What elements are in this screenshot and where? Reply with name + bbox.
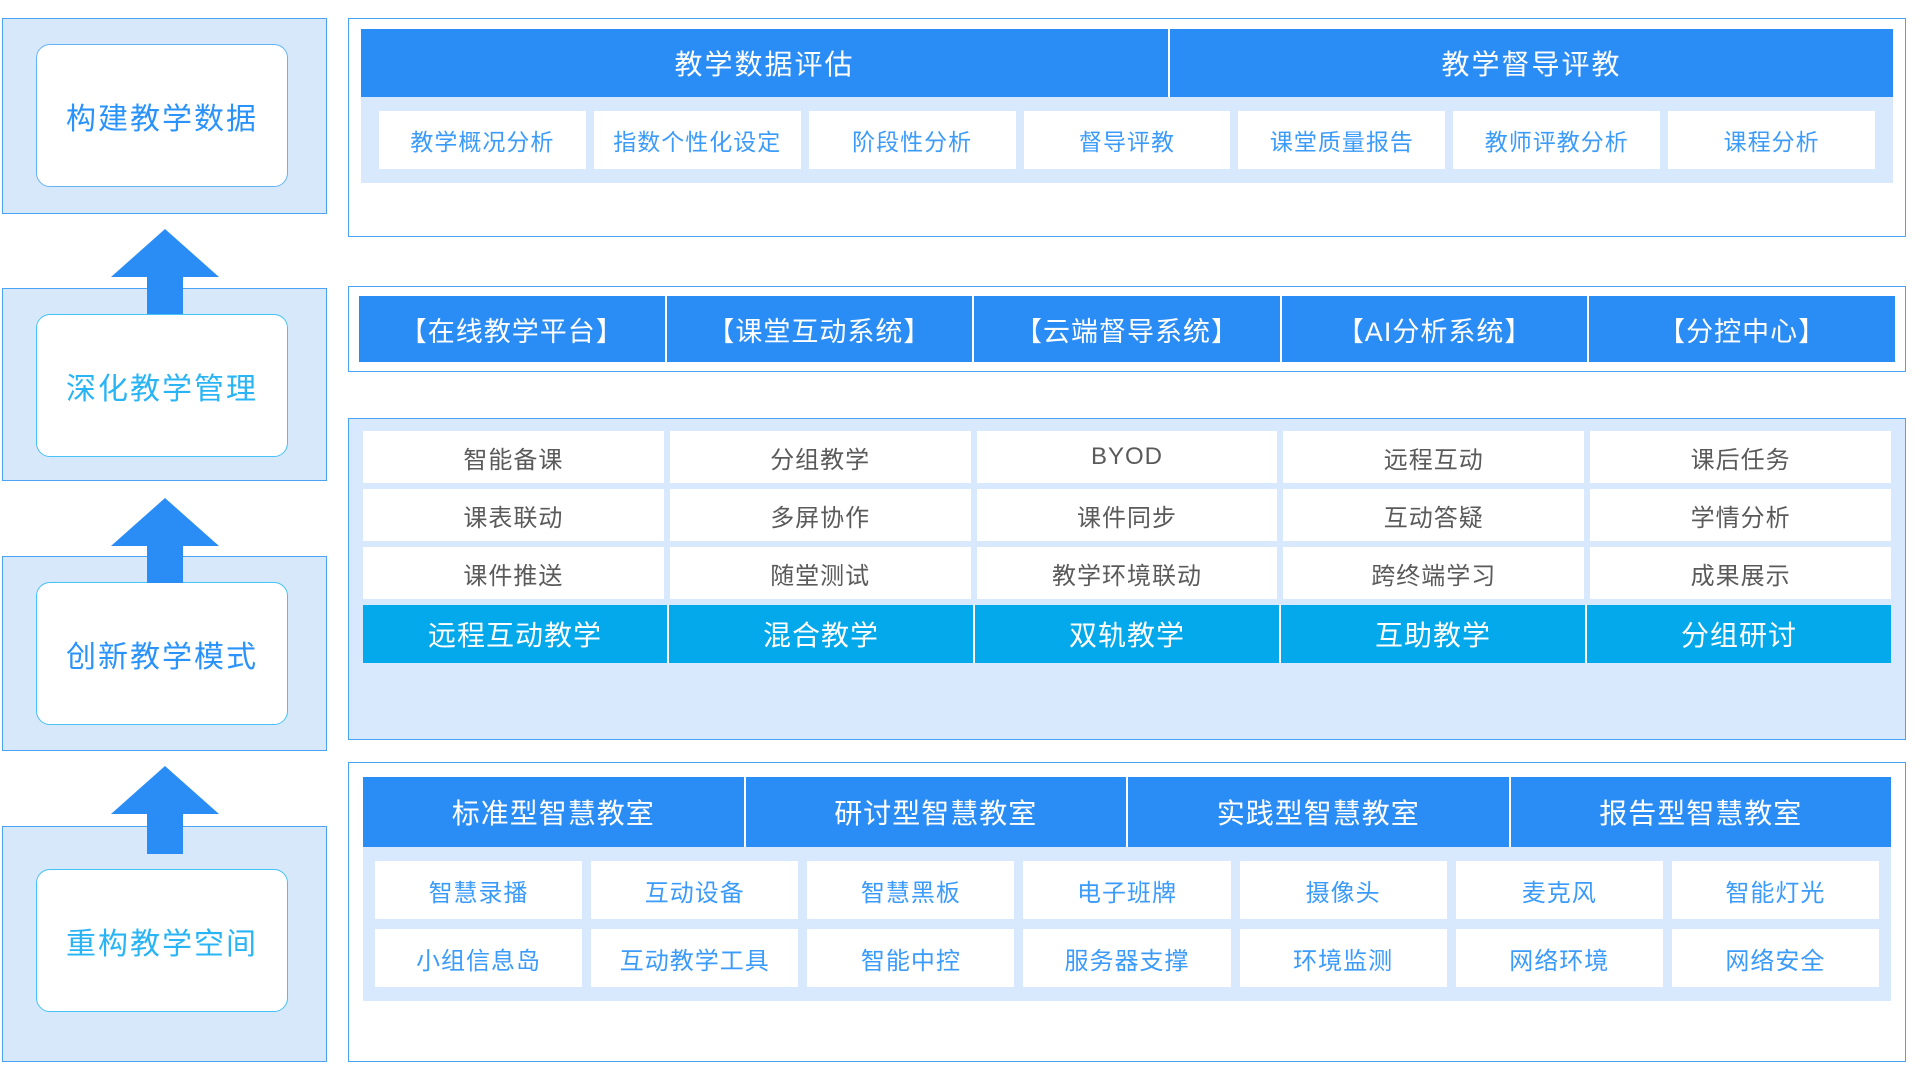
mode-label: 课表联动 — [463, 498, 563, 533]
facility-label: 服务器支撑 — [1064, 941, 1189, 976]
teaching-modes-grid: 智能备课 分组教学 BYOD 远程互动 课后任务 课表联动 — [349, 419, 1905, 675]
evaluation-band: 教学数据评估 教学督导评教 教学概况分析 指数个性化设定 阶段性分析 督导评教 — [348, 18, 1906, 237]
chip-supervision-evaluation[interactable]: 督导评教 — [1024, 111, 1231, 169]
mode-label: 分组研讨 — [1681, 614, 1797, 654]
chip-label: 课堂质量报告 — [1270, 123, 1414, 157]
mode-cell-cross-terminal-learning[interactable]: 跨终端学习 — [1283, 547, 1584, 599]
facility-label: 智能中控 — [861, 941, 961, 976]
facility-electronic-class-board[interactable]: 电子班牌 — [1023, 861, 1230, 919]
system-cloud-supervision[interactable]: 【云端督导系统】 — [974, 296, 1282, 362]
system-online-teaching-platform[interactable]: 【在线教学平台】 — [359, 296, 667, 362]
facility-label: 小组信息岛 — [416, 941, 541, 976]
header-teaching-data-evaluation[interactable]: 教学数据评估 — [361, 29, 1170, 97]
mode-cell-byod[interactable]: BYOD — [977, 431, 1278, 483]
system-label: 【课堂互动系统】 — [707, 310, 931, 349]
classroom-header-label: 报告型智慧教室 — [1599, 792, 1802, 832]
classroom-header-row: 标准型智慧教室 研讨型智慧教室 实践型智慧教室 报告型智慧教室 — [363, 777, 1891, 847]
mode-label: BYOD — [1091, 443, 1163, 471]
facility-label: 互动设备 — [645, 873, 745, 908]
classroom-header-label: 研讨型智慧教室 — [834, 792, 1037, 832]
chip-teaching-overview-analysis[interactable]: 教学概况分析 — [379, 111, 586, 169]
chip-teacher-evaluation-analysis[interactable]: 教师评教分析 — [1453, 111, 1660, 169]
systems-band: 【在线教学平台】 【课堂互动系统】 【云端督导系统】 【AI分析系统】 【分控中… — [348, 286, 1906, 372]
mode-label: 双轨教学 — [1069, 614, 1185, 654]
diagram-canvas: 构建教学数据 深化教学管理 创新教学模式 — [0, 0, 1922, 1080]
pillar-label-1: 构建教学数据 — [66, 94, 258, 138]
header-label: 教学数据评估 — [674, 43, 854, 83]
mode-label: 成果展示 — [1691, 556, 1791, 591]
classroom-header-label: 标准型智慧教室 — [452, 792, 655, 832]
mode-label: 课后任务 — [1691, 440, 1791, 475]
pillar-card-deepen-teaching-management[interactable]: 深化教学管理 — [36, 314, 288, 457]
evaluation-chip-strip: 教学概况分析 指数个性化设定 阶段性分析 督导评教 课堂质量报告 教师评教分析 — [361, 97, 1893, 183]
mode-label: 课件推送 — [463, 556, 563, 591]
evaluation-header-row: 教学数据评估 教学督导评教 — [361, 29, 1893, 97]
mode-cell-after-class-task[interactable]: 课后任务 — [1590, 431, 1891, 483]
mode-cell-group-teaching[interactable]: 分组教学 — [670, 431, 971, 483]
facility-smart-lighting[interactable]: 智能灯光 — [1672, 861, 1879, 919]
mode-label: 远程互动 — [1384, 440, 1484, 475]
facility-server-support[interactable]: 服务器支撑 — [1023, 929, 1230, 987]
facility-label: 网络环境 — [1509, 941, 1609, 976]
chip-course-analysis[interactable]: 课程分析 — [1668, 111, 1875, 169]
teaching-modes-band: 智能备课 分组教学 BYOD 远程互动 课后任务 课表联动 — [348, 418, 1906, 740]
pillar-card-rebuild-teaching-space[interactable]: 重构教学空间 — [36, 869, 288, 1012]
mode-label: 多屏协作 — [770, 498, 870, 533]
arrow-up-icon-2 — [111, 498, 219, 583]
pillar-card-build-teaching-data[interactable]: 构建教学数据 — [36, 44, 288, 187]
system-control-center[interactable]: 【分控中心】 — [1589, 296, 1895, 362]
facility-group-info-island[interactable]: 小组信息岛 — [375, 929, 582, 987]
facility-interactive-teaching-tools[interactable]: 互动教学工具 — [591, 929, 798, 987]
mode-label: 互助教学 — [1375, 614, 1491, 654]
facility-label: 智能灯光 — [1725, 873, 1825, 908]
chip-label: 教学概况分析 — [410, 123, 554, 157]
chip-label: 教师评教分析 — [1485, 123, 1629, 157]
facility-camera[interactable]: 摄像头 — [1240, 861, 1447, 919]
mode-cell-mutual-aid-teaching[interactable]: 互助教学 — [1281, 605, 1587, 663]
mode-cell-in-class-quiz[interactable]: 随堂测试 — [670, 547, 971, 599]
facility-label: 网络安全 — [1725, 941, 1825, 976]
header-label: 教学督导评教 — [1441, 43, 1621, 83]
mode-cell-dual-track-teaching[interactable]: 双轨教学 — [975, 605, 1281, 663]
system-label: 【在线教学平台】 — [400, 310, 624, 349]
facility-smart-central-control[interactable]: 智能中控 — [807, 929, 1014, 987]
system-classroom-interaction[interactable]: 【课堂互动系统】 — [667, 296, 975, 362]
chip-label: 督导评教 — [1079, 123, 1175, 157]
facility-label: 智慧黑板 — [861, 873, 961, 908]
facility-microphone[interactable]: 麦克风 — [1456, 861, 1663, 919]
mode-row-highlighted: 远程互动教学 混合教学 双轨教学 互助教学 分组研讨 — [363, 605, 1891, 663]
pillar-label-2: 深化教学管理 — [66, 364, 258, 408]
mode-label: 学情分析 — [1691, 498, 1791, 533]
facility-label: 麦克风 — [1522, 873, 1597, 908]
mode-cell-learning-analysis[interactable]: 学情分析 — [1590, 489, 1891, 541]
mode-cell-remote-interactive-teaching[interactable]: 远程互动教学 — [363, 605, 669, 663]
mode-label: 课件同步 — [1077, 498, 1177, 533]
mode-label: 跨终端学习 — [1371, 556, 1496, 591]
mode-cell-teaching-environment-linkage[interactable]: 教学环境联动 — [977, 547, 1278, 599]
mode-cell-blended-teaching[interactable]: 混合教学 — [669, 605, 975, 663]
classroom-header-practice[interactable]: 实践型智慧教室 — [1128, 777, 1511, 847]
chip-classroom-quality-report[interactable]: 课堂质量报告 — [1238, 111, 1445, 169]
mode-cell-timetable-linkage[interactable]: 课表联动 — [363, 489, 664, 541]
classroom-header-lecture[interactable]: 报告型智慧教室 — [1511, 777, 1892, 847]
mode-cell-outcome-display[interactable]: 成果展示 — [1590, 547, 1891, 599]
mode-label: 互动答疑 — [1384, 498, 1484, 533]
mode-label: 远程互动教学 — [428, 614, 602, 654]
mode-row: 课表联动 多屏协作 课件同步 互动答疑 学情分析 — [363, 489, 1891, 541]
facility-interactive-equipment[interactable]: 互动设备 — [591, 861, 798, 919]
system-label: 【AI分析系统】 — [1337, 310, 1533, 349]
classroom-header-label: 实践型智慧教室 — [1217, 792, 1420, 832]
mode-cell-group-discussion[interactable]: 分组研讨 — [1587, 605, 1891, 663]
pillar-card-innovate-teaching-mode[interactable]: 创新教学模式 — [36, 582, 288, 725]
mode-cell-interactive-qa[interactable]: 互动答疑 — [1283, 489, 1584, 541]
mode-cell-remote-interaction[interactable]: 远程互动 — [1283, 431, 1584, 483]
pillar-label-4: 重构教学空间 — [66, 919, 258, 963]
facility-label: 互动教学工具 — [620, 941, 770, 976]
classroom-facilities-grid: 智慧录播 互动设备 智慧黑板 电子班牌 摄像头 麦克风 智能灯光 — [363, 847, 1891, 1001]
mode-row: 课件推送 随堂测试 教学环境联动 跨终端学习 成果展示 — [363, 547, 1891, 599]
arrow-up-icon-3 — [111, 766, 219, 854]
mode-row: 智能备课 分组教学 BYOD 远程互动 课后任务 — [363, 431, 1891, 483]
chip-label: 课程分析 — [1724, 123, 1820, 157]
facility-network-environment[interactable]: 网络环境 — [1456, 929, 1663, 987]
classroom-row: 小组信息岛 互动教学工具 智能中控 服务器支撑 环境监测 网络环境 — [375, 929, 1879, 987]
mode-label: 混合教学 — [763, 614, 879, 654]
system-ai-analysis[interactable]: 【AI分析系统】 — [1282, 296, 1590, 362]
arrow-up-icon-1 — [111, 229, 219, 314]
chip-index-customization[interactable]: 指数个性化设定 — [594, 111, 801, 169]
mode-cell-multiscreen-collaboration[interactable]: 多屏协作 — [670, 489, 971, 541]
mode-cell-courseware-push[interactable]: 课件推送 — [363, 547, 664, 599]
facility-network-security[interactable]: 网络安全 — [1672, 929, 1879, 987]
classroom-row: 智慧录播 互动设备 智慧黑板 电子班牌 摄像头 麦克风 智能灯光 — [375, 861, 1879, 919]
header-teaching-supervision-evaluation[interactable]: 教学督导评教 — [1170, 29, 1893, 97]
mode-label: 智能备课 — [463, 440, 563, 475]
systems-row: 【在线教学平台】 【课堂互动系统】 【云端督导系统】 【AI分析系统】 【分控中… — [359, 296, 1895, 362]
mode-label: 随堂测试 — [770, 556, 870, 591]
classroom-band: 标准型智慧教室 研讨型智慧教室 实践型智慧教室 报告型智慧教室 智慧录播 互动设… — [348, 762, 1906, 1062]
mode-label: 分组教学 — [770, 440, 870, 475]
facility-smart-recording[interactable]: 智慧录播 — [375, 861, 582, 919]
facility-label: 环境监测 — [1293, 941, 1393, 976]
chip-label: 阶段性分析 — [852, 123, 972, 157]
mode-cell-courseware-sync[interactable]: 课件同步 — [977, 489, 1278, 541]
mode-cell-smart-lesson-prep[interactable]: 智能备课 — [363, 431, 664, 483]
chip-phase-analysis[interactable]: 阶段性分析 — [809, 111, 1016, 169]
facility-label: 电子班牌 — [1077, 873, 1177, 908]
system-label: 【分控中心】 — [1658, 310, 1826, 349]
mode-label: 教学环境联动 — [1052, 556, 1202, 591]
facility-smart-blackboard[interactable]: 智慧黑板 — [807, 861, 1014, 919]
pillar-column: 构建教学数据 深化教学管理 创新教学模式 — [0, 0, 334, 1080]
classroom-header-seminar[interactable]: 研讨型智慧教室 — [746, 777, 1129, 847]
facility-label: 智慧录播 — [429, 873, 529, 908]
facility-environment-monitoring[interactable]: 环境监测 — [1240, 929, 1447, 987]
facility-label: 摄像头 — [1306, 873, 1381, 908]
classroom-header-standard[interactable]: 标准型智慧教室 — [363, 777, 746, 847]
pillar-label-3: 创新教学模式 — [66, 632, 258, 676]
system-label: 【云端督导系统】 — [1015, 310, 1239, 349]
chip-label: 指数个性化设定 — [613, 123, 781, 157]
